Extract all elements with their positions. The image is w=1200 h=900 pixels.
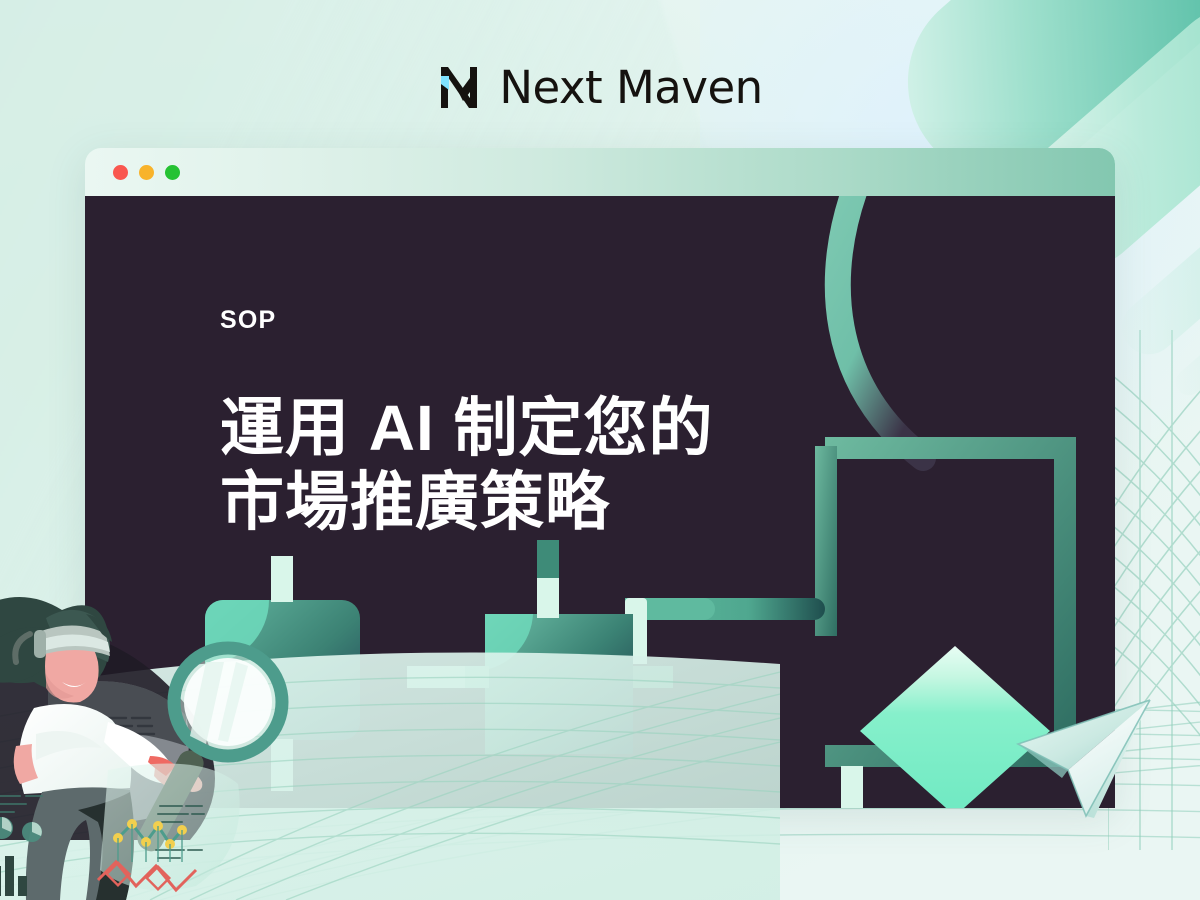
window-titlebar — [85, 148, 1115, 196]
eyebrow-label: SOP — [220, 306, 714, 335]
zoom-button-dot[interactable] — [165, 165, 180, 180]
slide-canvas: Next Maven — [0, 0, 1200, 900]
minimize-button-dot[interactable] — [139, 165, 154, 180]
brand-name: Next Maven — [499, 65, 762, 110]
slide-copy: SOP 運用 AI 制定您的 市場推廣策略 — [220, 306, 714, 539]
page-title: 運用 AI 制定您的 市場推廣策略 — [220, 391, 714, 539]
brand-logo: Next Maven — [0, 62, 1200, 112]
paper-plane-icon — [982, 696, 1182, 866]
woman-vr-headset-illustration — [0, 570, 350, 900]
next-maven-m-mark-icon — [437, 62, 489, 112]
close-button-dot[interactable] — [113, 165, 128, 180]
